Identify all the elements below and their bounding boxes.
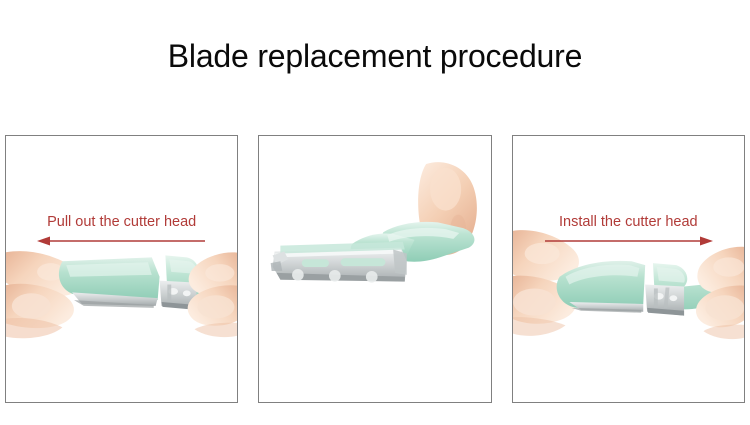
arrow-left-container <box>6 235 237 249</box>
panel-pull-out: Pull out the cutter head <box>5 135 238 403</box>
page-title: Blade replacement procedure <box>0 38 750 75</box>
arrow-left-icon <box>37 235 207 247</box>
cutter-head-piece <box>59 257 160 308</box>
metal-blade <box>271 242 407 283</box>
blade-replacement-infographic: Blade replacement procedure <box>0 0 750 425</box>
scene-blade-detail <box>259 136 490 402</box>
panel-install: Install the cutter head <box>512 135 745 403</box>
metal-blade-holder <box>645 285 684 316</box>
panel-row: Pull out the cutter head <box>5 135 745 403</box>
arrow-right-icon <box>543 235 713 247</box>
scene-pull-out-cutter-head <box>6 136 237 402</box>
panel-blade-detail <box>258 135 491 403</box>
panel-caption-pull-out: Pull out the cutter head <box>6 214 237 230</box>
scene-install-cutter-head <box>513 136 744 402</box>
panel-caption-install: Install the cutter head <box>513 214 744 230</box>
arrow-right-container <box>513 235 744 249</box>
